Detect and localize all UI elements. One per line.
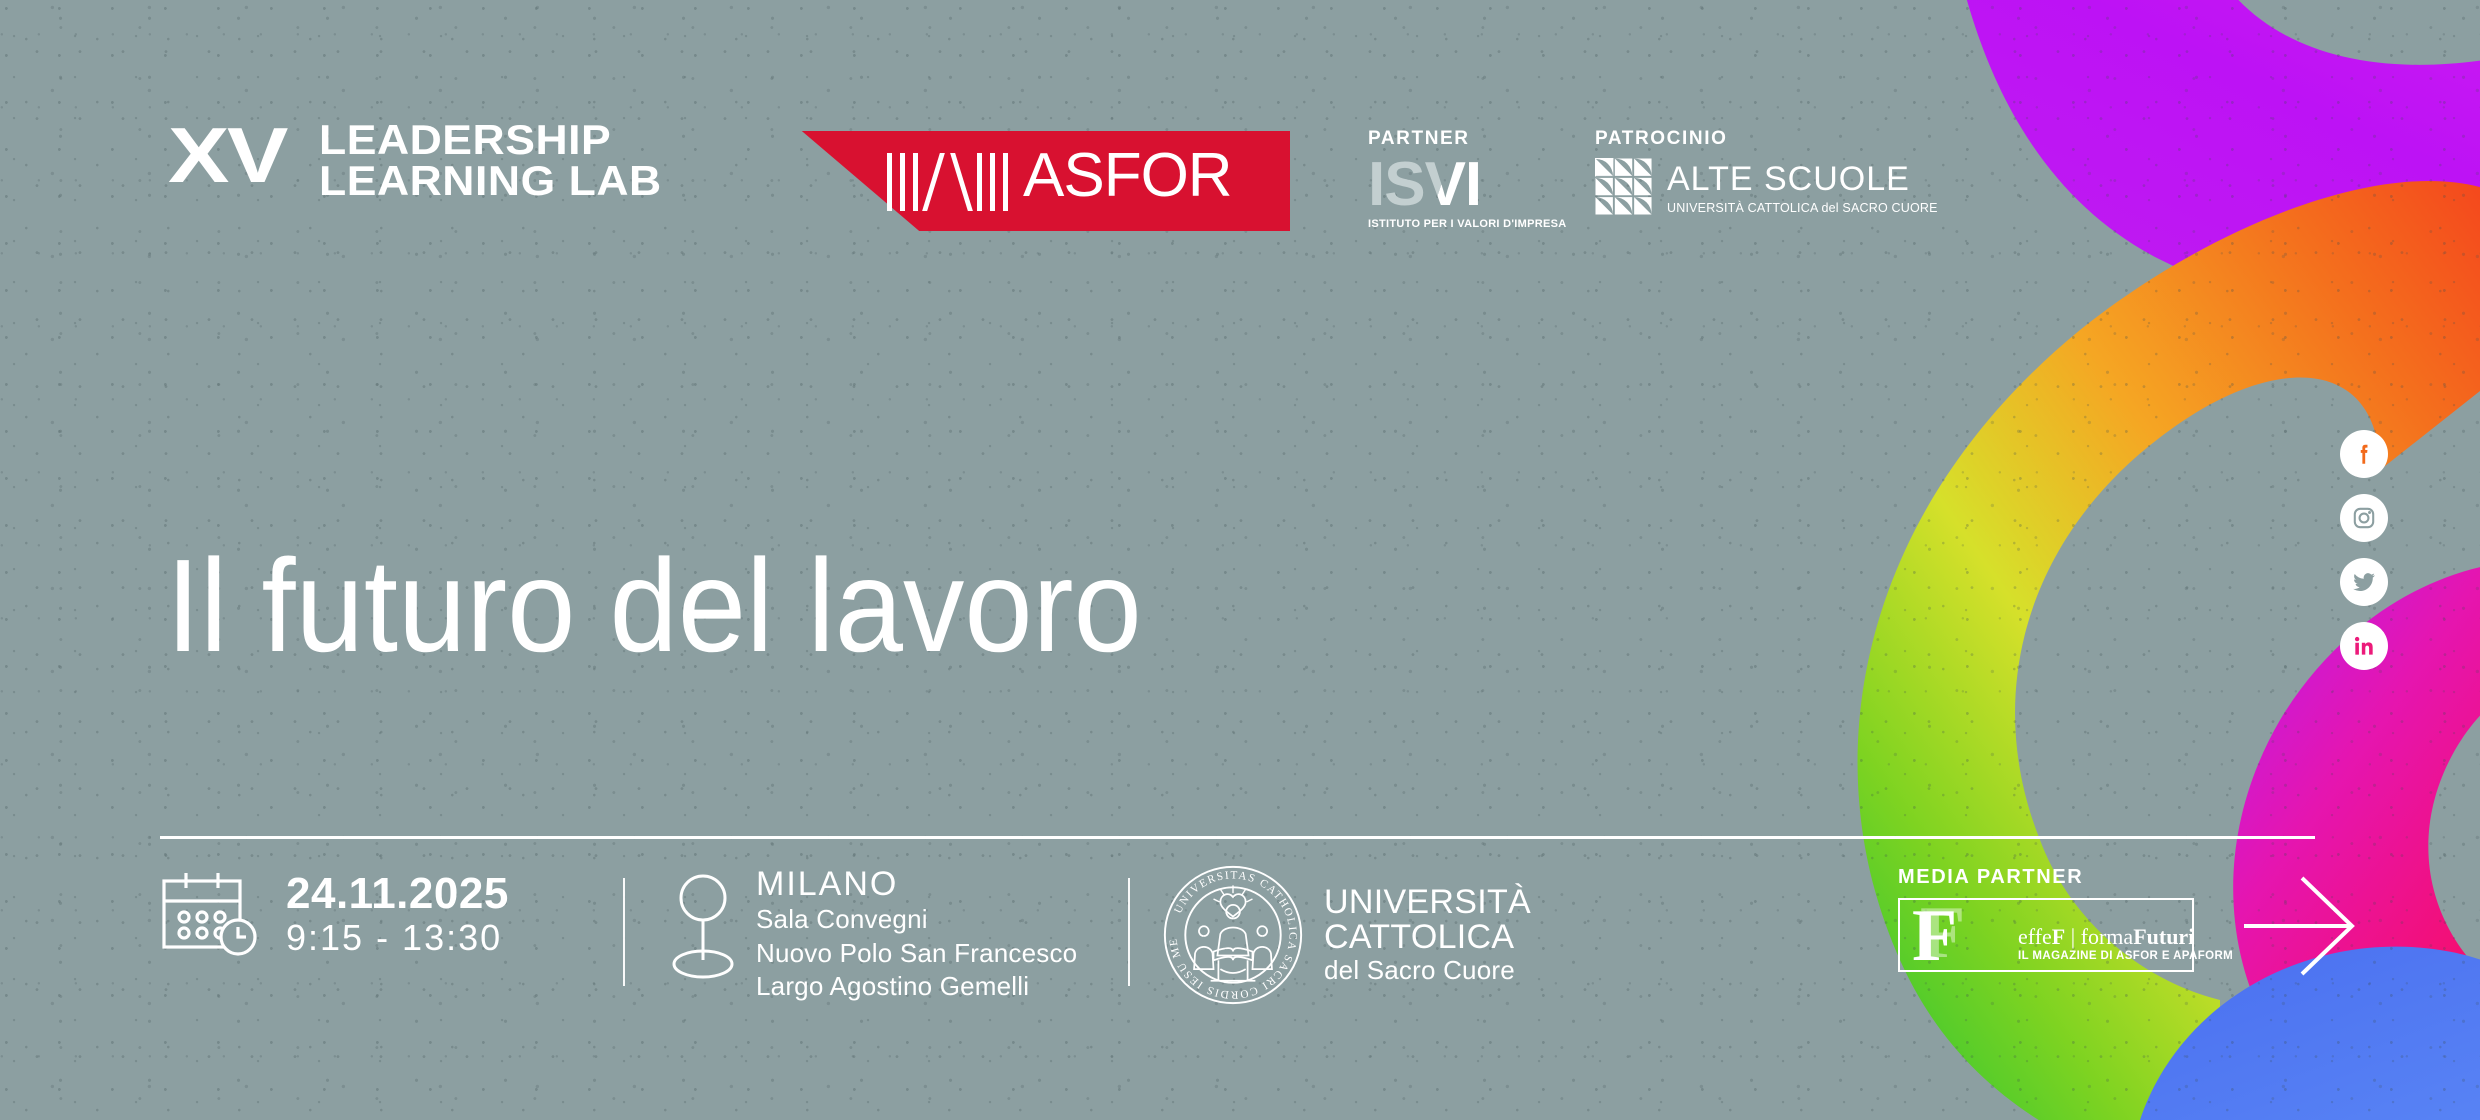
next-arrow-icon[interactable]: [2244, 872, 2364, 980]
university-line-1: UNIVERSITÀ: [1324, 885, 1531, 920]
alte-scuole-name: ALTE SCUOLE: [1667, 162, 1938, 196]
linkedin-glyph: [2351, 633, 2377, 659]
location-pin-icon: [672, 872, 734, 982]
title-bold-2: Futuri: [2133, 924, 2194, 949]
location-city: MILANO: [756, 866, 1077, 903]
event-time: 9:15 - 13:30: [286, 918, 509, 958]
footer-info-bar: 24.11.2025 9:15 - 13:30 MILANO Sala Conv…: [0, 860, 2480, 1040]
brand-line-2: LEARNING LAB: [319, 161, 662, 202]
page-title: Il futuro del lavoro: [166, 540, 1142, 672]
media-partner-label: MEDIA PARTNER: [1898, 866, 2194, 889]
media-partner-tagline: IL MAGAZINE DI ASFOR E APAFORM: [2018, 950, 2233, 962]
asfor-wordmark: ASFOR: [1023, 145, 1232, 207]
location-address: Largo Agostino Gemelli: [756, 970, 1077, 1003]
patrocinio-alte-scuole-logo: PATROCINIO: [1595, 128, 1938, 216]
event-banner: XV LEADERSHIP LEARNING LAB ASFOR PARTNER…: [0, 0, 2480, 1120]
horizontal-divider: [160, 836, 2315, 839]
linkedin-icon[interactable]: [2340, 622, 2388, 670]
effef-letter-icon: F: [1912, 906, 1957, 967]
twitter-bird-glyph: [2351, 569, 2377, 595]
footer-separator-1: [623, 878, 625, 986]
title-bold-1: F: [2052, 924, 2065, 949]
media-partner-title: effeF | formaFuturi: [2018, 924, 2194, 950]
university-line-3: del Sacro Cuore: [1324, 956, 1531, 985]
calendar-clock-icon: [162, 871, 260, 957]
instagram-icon[interactable]: [2340, 494, 2388, 542]
twitter-icon[interactable]: [2340, 558, 2388, 606]
isvi-tagline: ISTITUTO PER I VALORI D'IMPRESA: [1368, 218, 1567, 230]
asfor-logo: ASFOR: [775, 131, 1290, 231]
alte-scuole-sail-mark: [1595, 158, 1653, 216]
media-partner-block: MEDIA PARTNER F F effeF | formaFuturi IL…: [1898, 866, 2194, 972]
location-venue: Sala Convegni: [756, 903, 1077, 936]
instagram-glyph: [2351, 505, 2377, 531]
location-block: MILANO Sala Convegni Nuovo Polo San Fran…: [672, 866, 1077, 1003]
title-light-2: forma: [2081, 924, 2134, 949]
social-links: [2340, 430, 2388, 686]
isvi-wordmark: ISVI: [1368, 154, 1567, 216]
partner-isvi-logo: PARTNER ISVI ISTITUTO PER I VALORI D'IMP…: [1368, 128, 1567, 230]
university-line-2: CATTOLICA: [1324, 920, 1531, 955]
edition-number: XV: [168, 120, 298, 192]
facebook-glyph: [2351, 441, 2377, 467]
location-building: Nuovo Polo San Francesco: [756, 937, 1077, 970]
title-light-1: effe: [2018, 924, 2052, 949]
facebook-icon[interactable]: [2340, 430, 2388, 478]
date-time-block: 24.11.2025 9:15 - 13:30: [162, 870, 509, 958]
brand-line-1: LEADERSHIP: [319, 120, 662, 161]
universita-cattolica-logo: UNIVERSITAS CATHOLICA SACRI CORDIS IESU …: [1160, 862, 1531, 1008]
footer-separator-2: [1128, 878, 1130, 986]
leadership-learning-lab-logo: XV LEADERSHIP LEARNING LAB: [168, 120, 642, 201]
patrocinio-label: PATROCINIO: [1595, 128, 1938, 150]
media-partner-logo-box: F F effeF | formaFuturi IL MAGAZINE DI A…: [1898, 898, 2194, 972]
event-date: 24.11.2025: [286, 870, 509, 918]
partner-label: PARTNER: [1368, 128, 1567, 150]
alte-scuole-tagline: UNIVERSITÀ CATTOLICA del SACRO CUORE: [1667, 201, 1938, 215]
brand-wordmark: LEADERSHIP LEARNING LAB: [319, 120, 642, 201]
title-separator: |: [2071, 924, 2075, 949]
university-seal-icon: UNIVERSITAS CATHOLICA SACRI CORDIS IESU …: [1160, 862, 1306, 1008]
